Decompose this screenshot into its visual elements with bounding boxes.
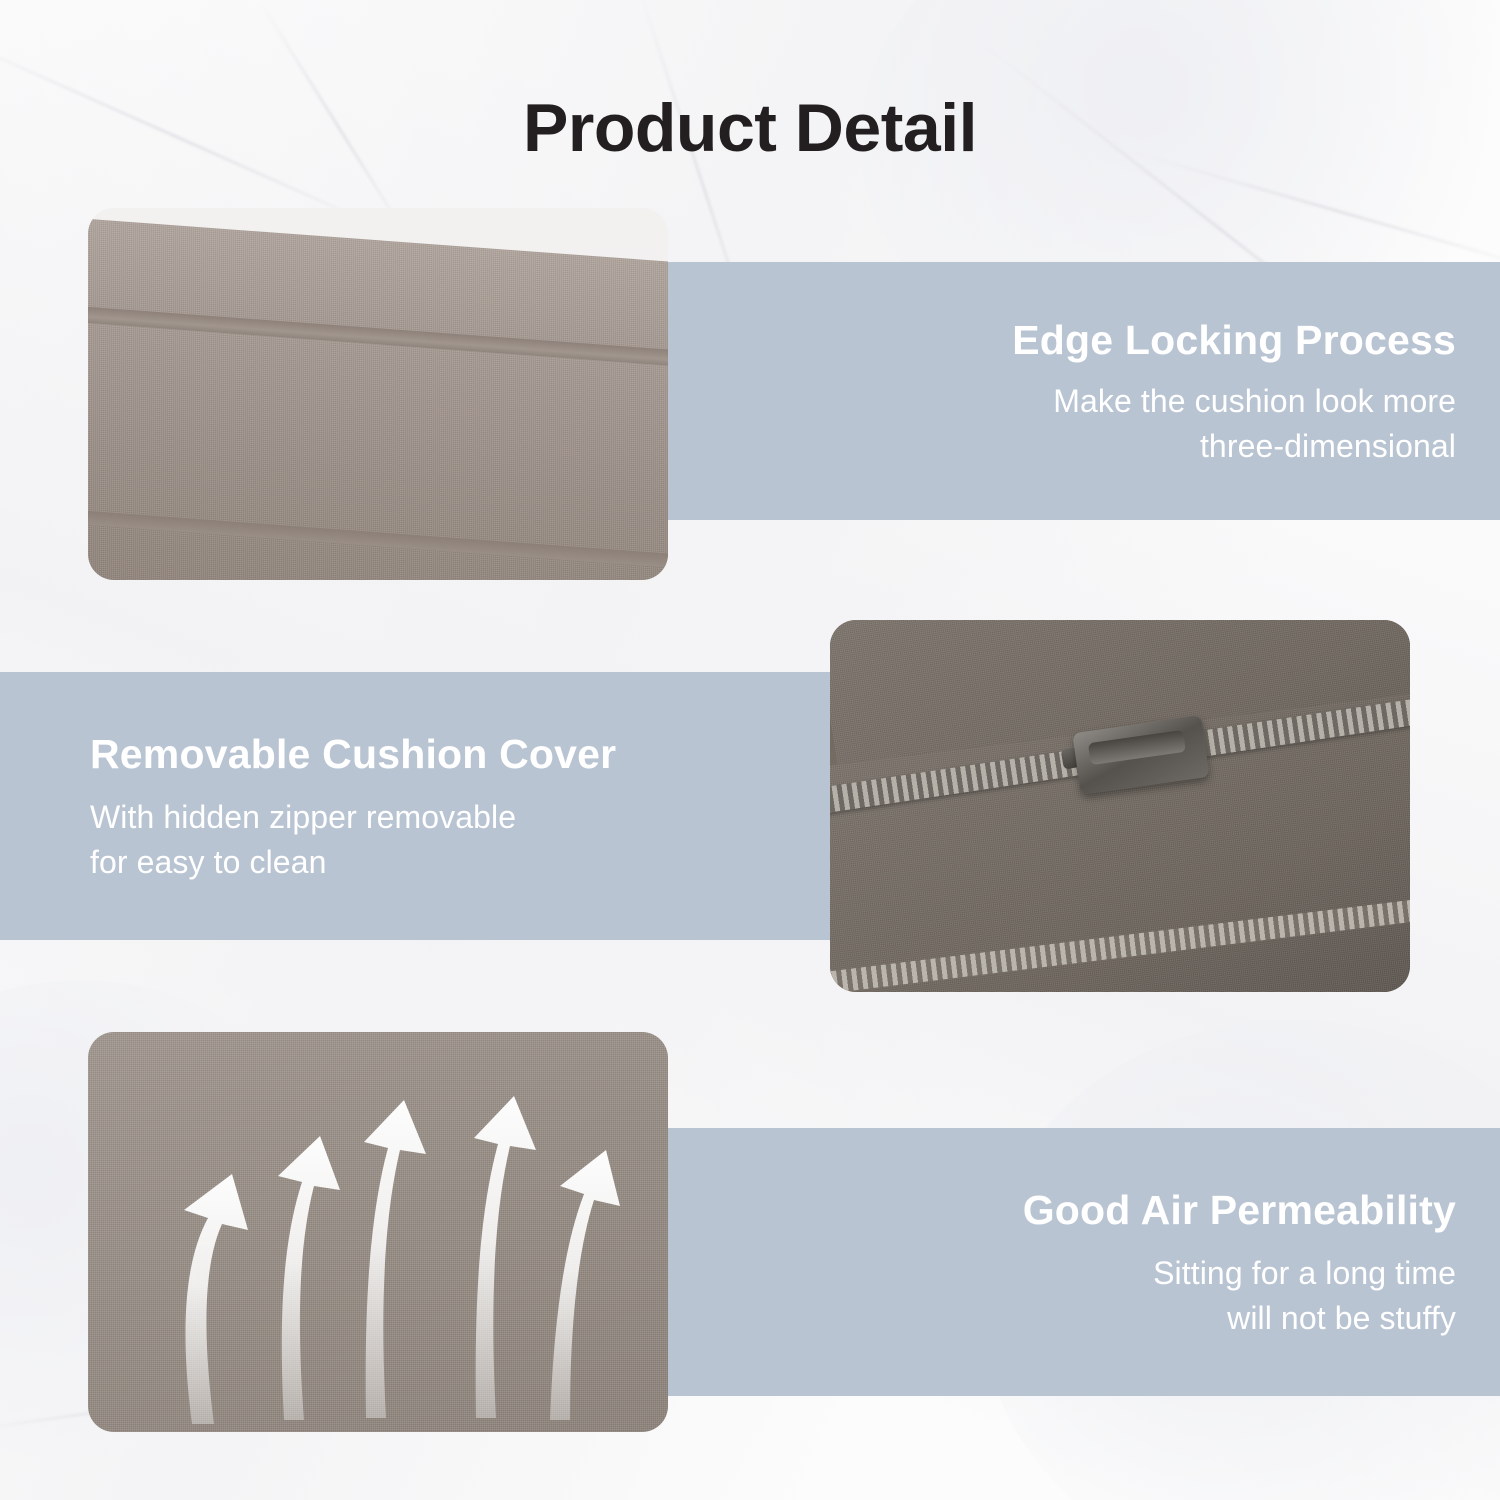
section-subtext-line1-removable-cover: With hidden zipper removable [90, 795, 516, 840]
airflow-arrows-group [88, 1032, 668, 1432]
section-headline-air-permeability: Good Air Permeability [1023, 1183, 1456, 1237]
page-title: Product Detail [0, 86, 1500, 170]
product-photo-air-permeability [88, 1032, 668, 1432]
section-subtext-line2-removable-cover: for easy to clean [90, 840, 327, 885]
section-headline-removable-cover: Removable Cushion Cover [90, 727, 616, 781]
airflow-arrow-icon [184, 1174, 248, 1424]
airflow-arrow-icon [278, 1136, 340, 1420]
section-band-air-permeability: Good Air Permeability Sitting for a long… [668, 1128, 1500, 1396]
airflow-arrow-icon [550, 1150, 620, 1420]
airflow-arrow-icon [474, 1096, 536, 1418]
section-headline-edge-locking: Edge Locking Process [1012, 313, 1456, 367]
product-photo-removable-cover [830, 620, 1410, 992]
product-detail-page: Product Detail Edge Locking Process Make… [0, 0, 1500, 1500]
section-subtext-line1-edge-locking: Make the cushion look more [1053, 379, 1456, 424]
airflow-arrow-icon [364, 1100, 426, 1418]
section-subtext-line1-air-permeability: Sitting for a long time [1153, 1251, 1456, 1296]
section-subtext-line2-air-permeability: will not be stuffy [1227, 1296, 1456, 1341]
section-subtext-line2-edge-locking: three-dimensional [1200, 424, 1456, 469]
section-band-removable-cover: Removable Cushion Cover With hidden zipp… [0, 672, 832, 940]
product-photo-edge-locking [88, 208, 668, 580]
section-band-edge-locking: Edge Locking Process Make the cushion lo… [668, 262, 1500, 520]
